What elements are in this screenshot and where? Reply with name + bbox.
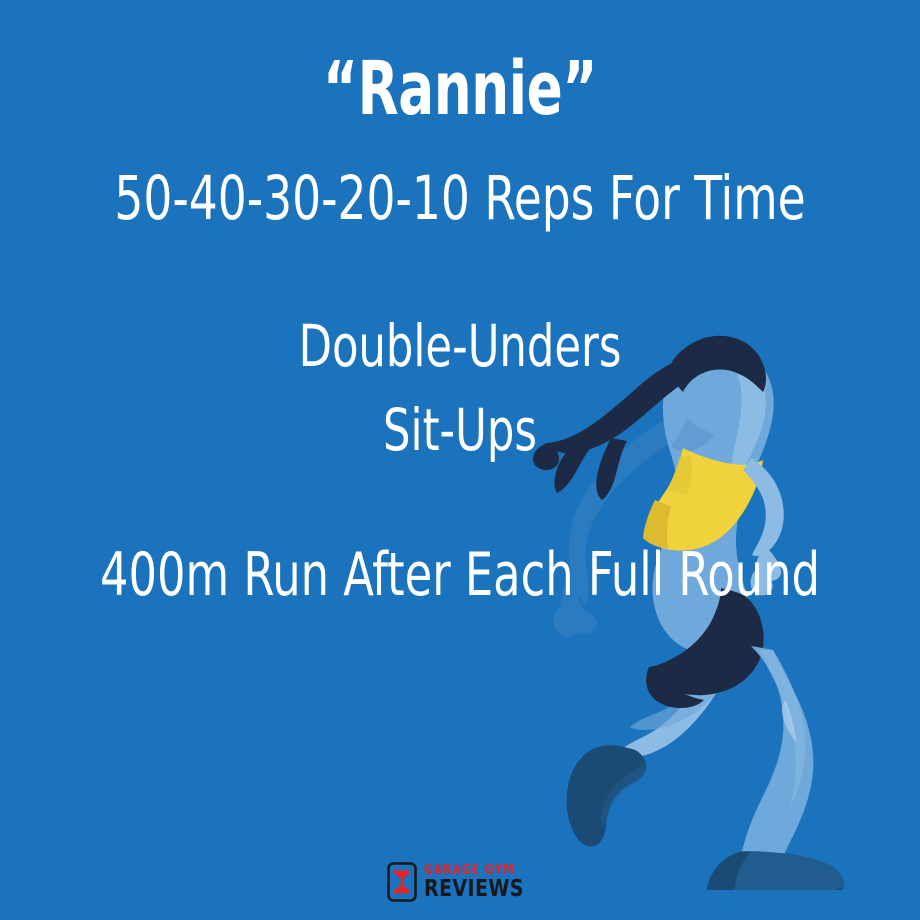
movement-list: Double-Unders Sit-Ups: [0, 317, 920, 459]
brand-wordmark: GARAGE GYM REVIEWS: [424, 864, 532, 901]
runner-front-leg: [738, 646, 814, 887]
workout-poster: “Rannie” 50-40-30-20-10 Reps For Time Do…: [0, 0, 920, 920]
page-title: “Rannie”: [92, 52, 828, 126]
movement-item-2: Sit-Ups: [78, 401, 842, 459]
reps-scheme-line: 50-40-30-20-10 Reps For Time: [78, 168, 842, 229]
brand-line-reviews: REVIEWS: [424, 878, 524, 901]
barbell-bench-icon: [387, 862, 417, 902]
finisher-line: 400m Run After Each Full Round: [78, 545, 842, 605]
runner-rear-shoe: [567, 745, 647, 846]
brand-logo: GARAGE GYM REVIEWS: [0, 862, 920, 902]
poster-text-stack: “Rannie” 50-40-30-20-10 Reps For Time Do…: [0, 0, 920, 605]
runner-rear-leg: [616, 630, 751, 758]
movement-item-1: Double-Unders: [78, 317, 842, 375]
